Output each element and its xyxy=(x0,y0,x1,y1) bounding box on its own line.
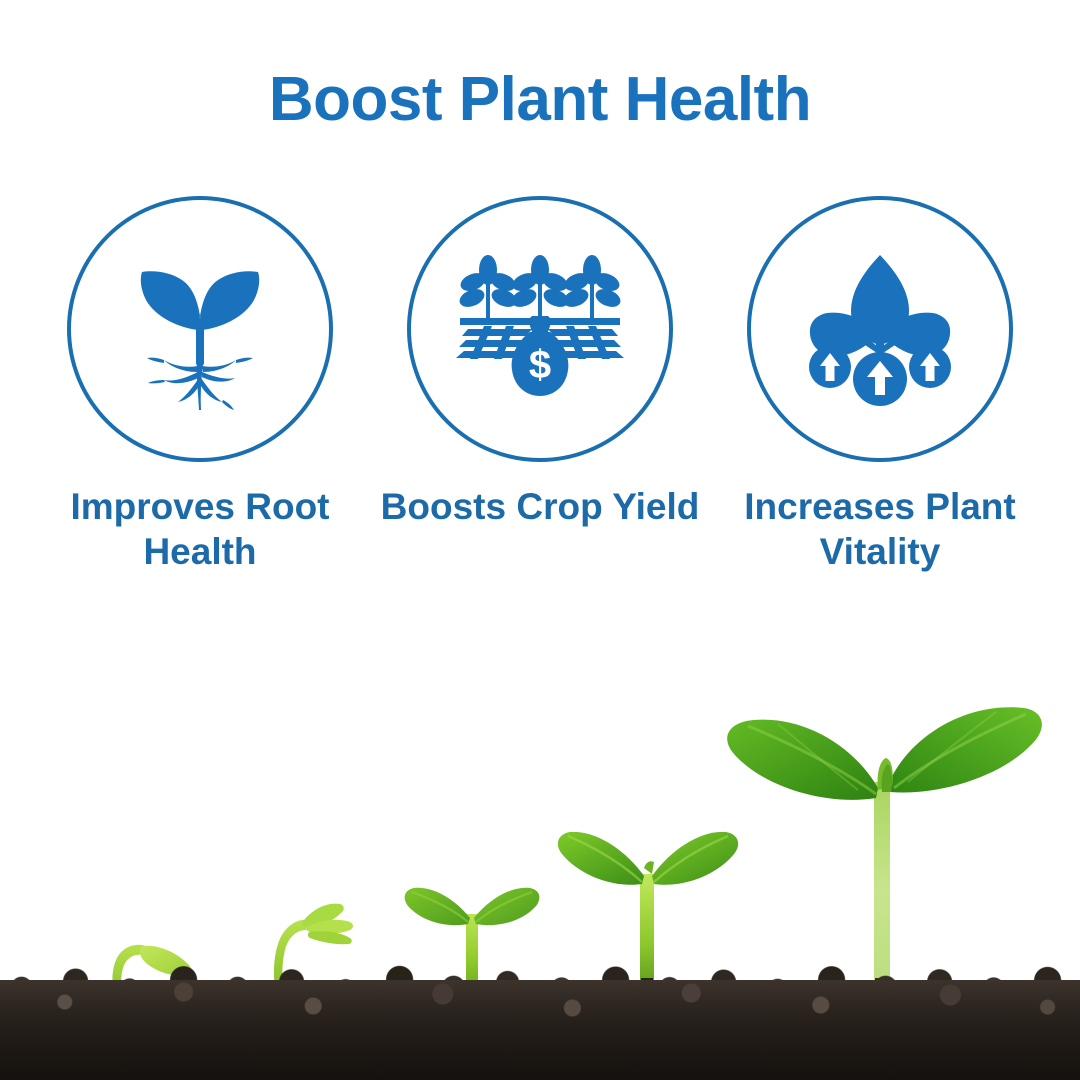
feature-label-3: Increases Plant Vitality xyxy=(720,484,1040,574)
plant-stage-5 xyxy=(718,702,1048,1002)
feature-label-1: Improves Root Health xyxy=(40,484,360,574)
svg-text:$: $ xyxy=(529,343,551,387)
feature-increases-plant-vitality[interactable]: Increases Plant Vitality xyxy=(710,196,1050,574)
icon-circle-1 xyxy=(67,196,333,462)
crop-field-money-bag-icon: $ xyxy=(454,254,626,404)
feature-improves-root-health[interactable]: Improves Root Health xyxy=(30,196,370,574)
soil-band xyxy=(0,980,1080,1080)
feature-boosts-crop-yield[interactable]: $ Boosts Crop Yield xyxy=(370,196,710,529)
feature-row: Improves Root Health xyxy=(0,196,1080,574)
feature-label-2: Boosts Crop Yield xyxy=(381,484,700,529)
plant-with-up-arrows-icon xyxy=(801,249,959,409)
sprout-with-roots-icon xyxy=(120,244,280,414)
page-title: Boost Plant Health xyxy=(0,66,1080,134)
icon-circle-2: $ xyxy=(407,196,673,462)
infographic-canvas: Boost Plant Health xyxy=(0,0,1080,1080)
plant-growth-photo xyxy=(0,660,1080,1080)
icon-circle-3 xyxy=(747,196,1013,462)
